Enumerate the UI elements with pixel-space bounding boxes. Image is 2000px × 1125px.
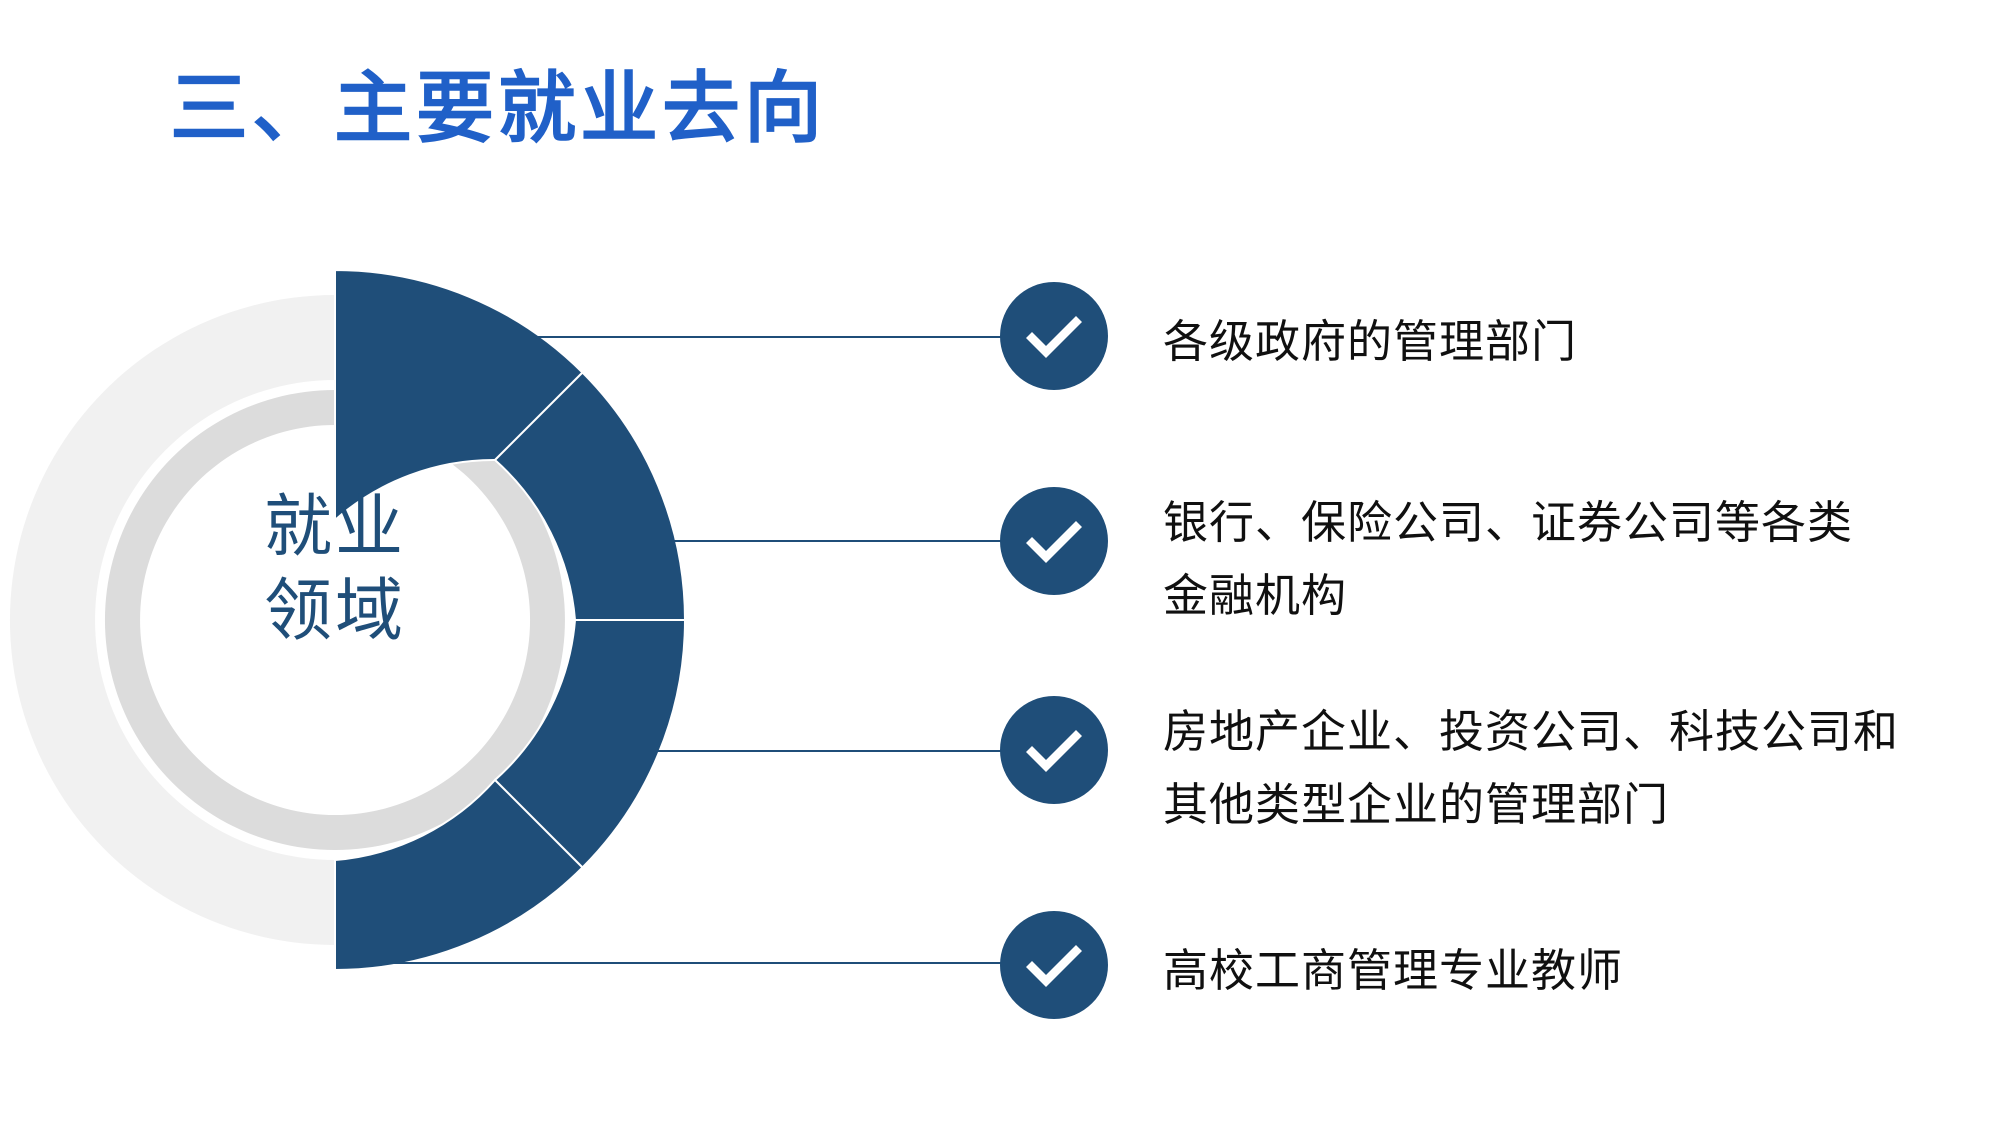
list-item-line: 金融机构 [1163,560,1853,633]
check-glyph-icon [1022,310,1086,362]
check-icon [1000,487,1108,595]
list-item[interactable]: 高校工商管理专业教师 [1000,911,1623,1019]
list-item-line: 各级政府的管理部门 [1163,306,1577,379]
connector-line-3 [596,750,1020,752]
list-item[interactable]: 房地产企业、投资公司、科技公司和 其他类型企业的管理部门 [1000,696,1899,842]
check-glyph-icon [1022,515,1086,567]
list-item-text: 高校工商管理专业教师 [1163,911,1623,1008]
donut-center-label-line2: 领域 [155,569,515,653]
donut-center-label: 就业 领域 [155,485,515,653]
list-item-line: 其他类型企业的管理部门 [1163,769,1899,842]
list-item[interactable]: 银行、保险公司、证券公司等各类 金融机构 [1000,487,1853,633]
employment-donut-chart: 就业 领域 [0,250,760,1010]
connector-line-1 [460,336,1020,338]
donut-center-label-line1: 就业 [155,485,515,569]
list-item[interactable]: 各级政府的管理部门 [1000,282,1577,390]
check-glyph-icon [1022,939,1086,991]
check-icon [1000,282,1108,390]
list-item-line: 高校工商管理专业教师 [1163,935,1623,1008]
slide-canvas: 三、主要就业去向 就业 领域 [0,0,2000,1125]
check-icon [1000,911,1108,1019]
list-item-line: 银行、保险公司、证券公司等各类 [1163,487,1853,560]
list-item-text: 银行、保险公司、证券公司等各类 金融机构 [1163,487,1853,633]
list-item-line: 房地产企业、投资公司、科技公司和 [1163,696,1899,769]
list-item-text: 房地产企业、投资公司、科技公司和 其他类型企业的管理部门 [1163,696,1899,842]
check-glyph-icon [1022,724,1086,776]
connector-line-2 [596,540,1020,542]
connector-line-4 [340,962,1020,964]
check-icon [1000,696,1108,804]
list-item-text: 各级政府的管理部门 [1163,282,1577,379]
page-title: 三、主要就业去向 [170,58,826,158]
